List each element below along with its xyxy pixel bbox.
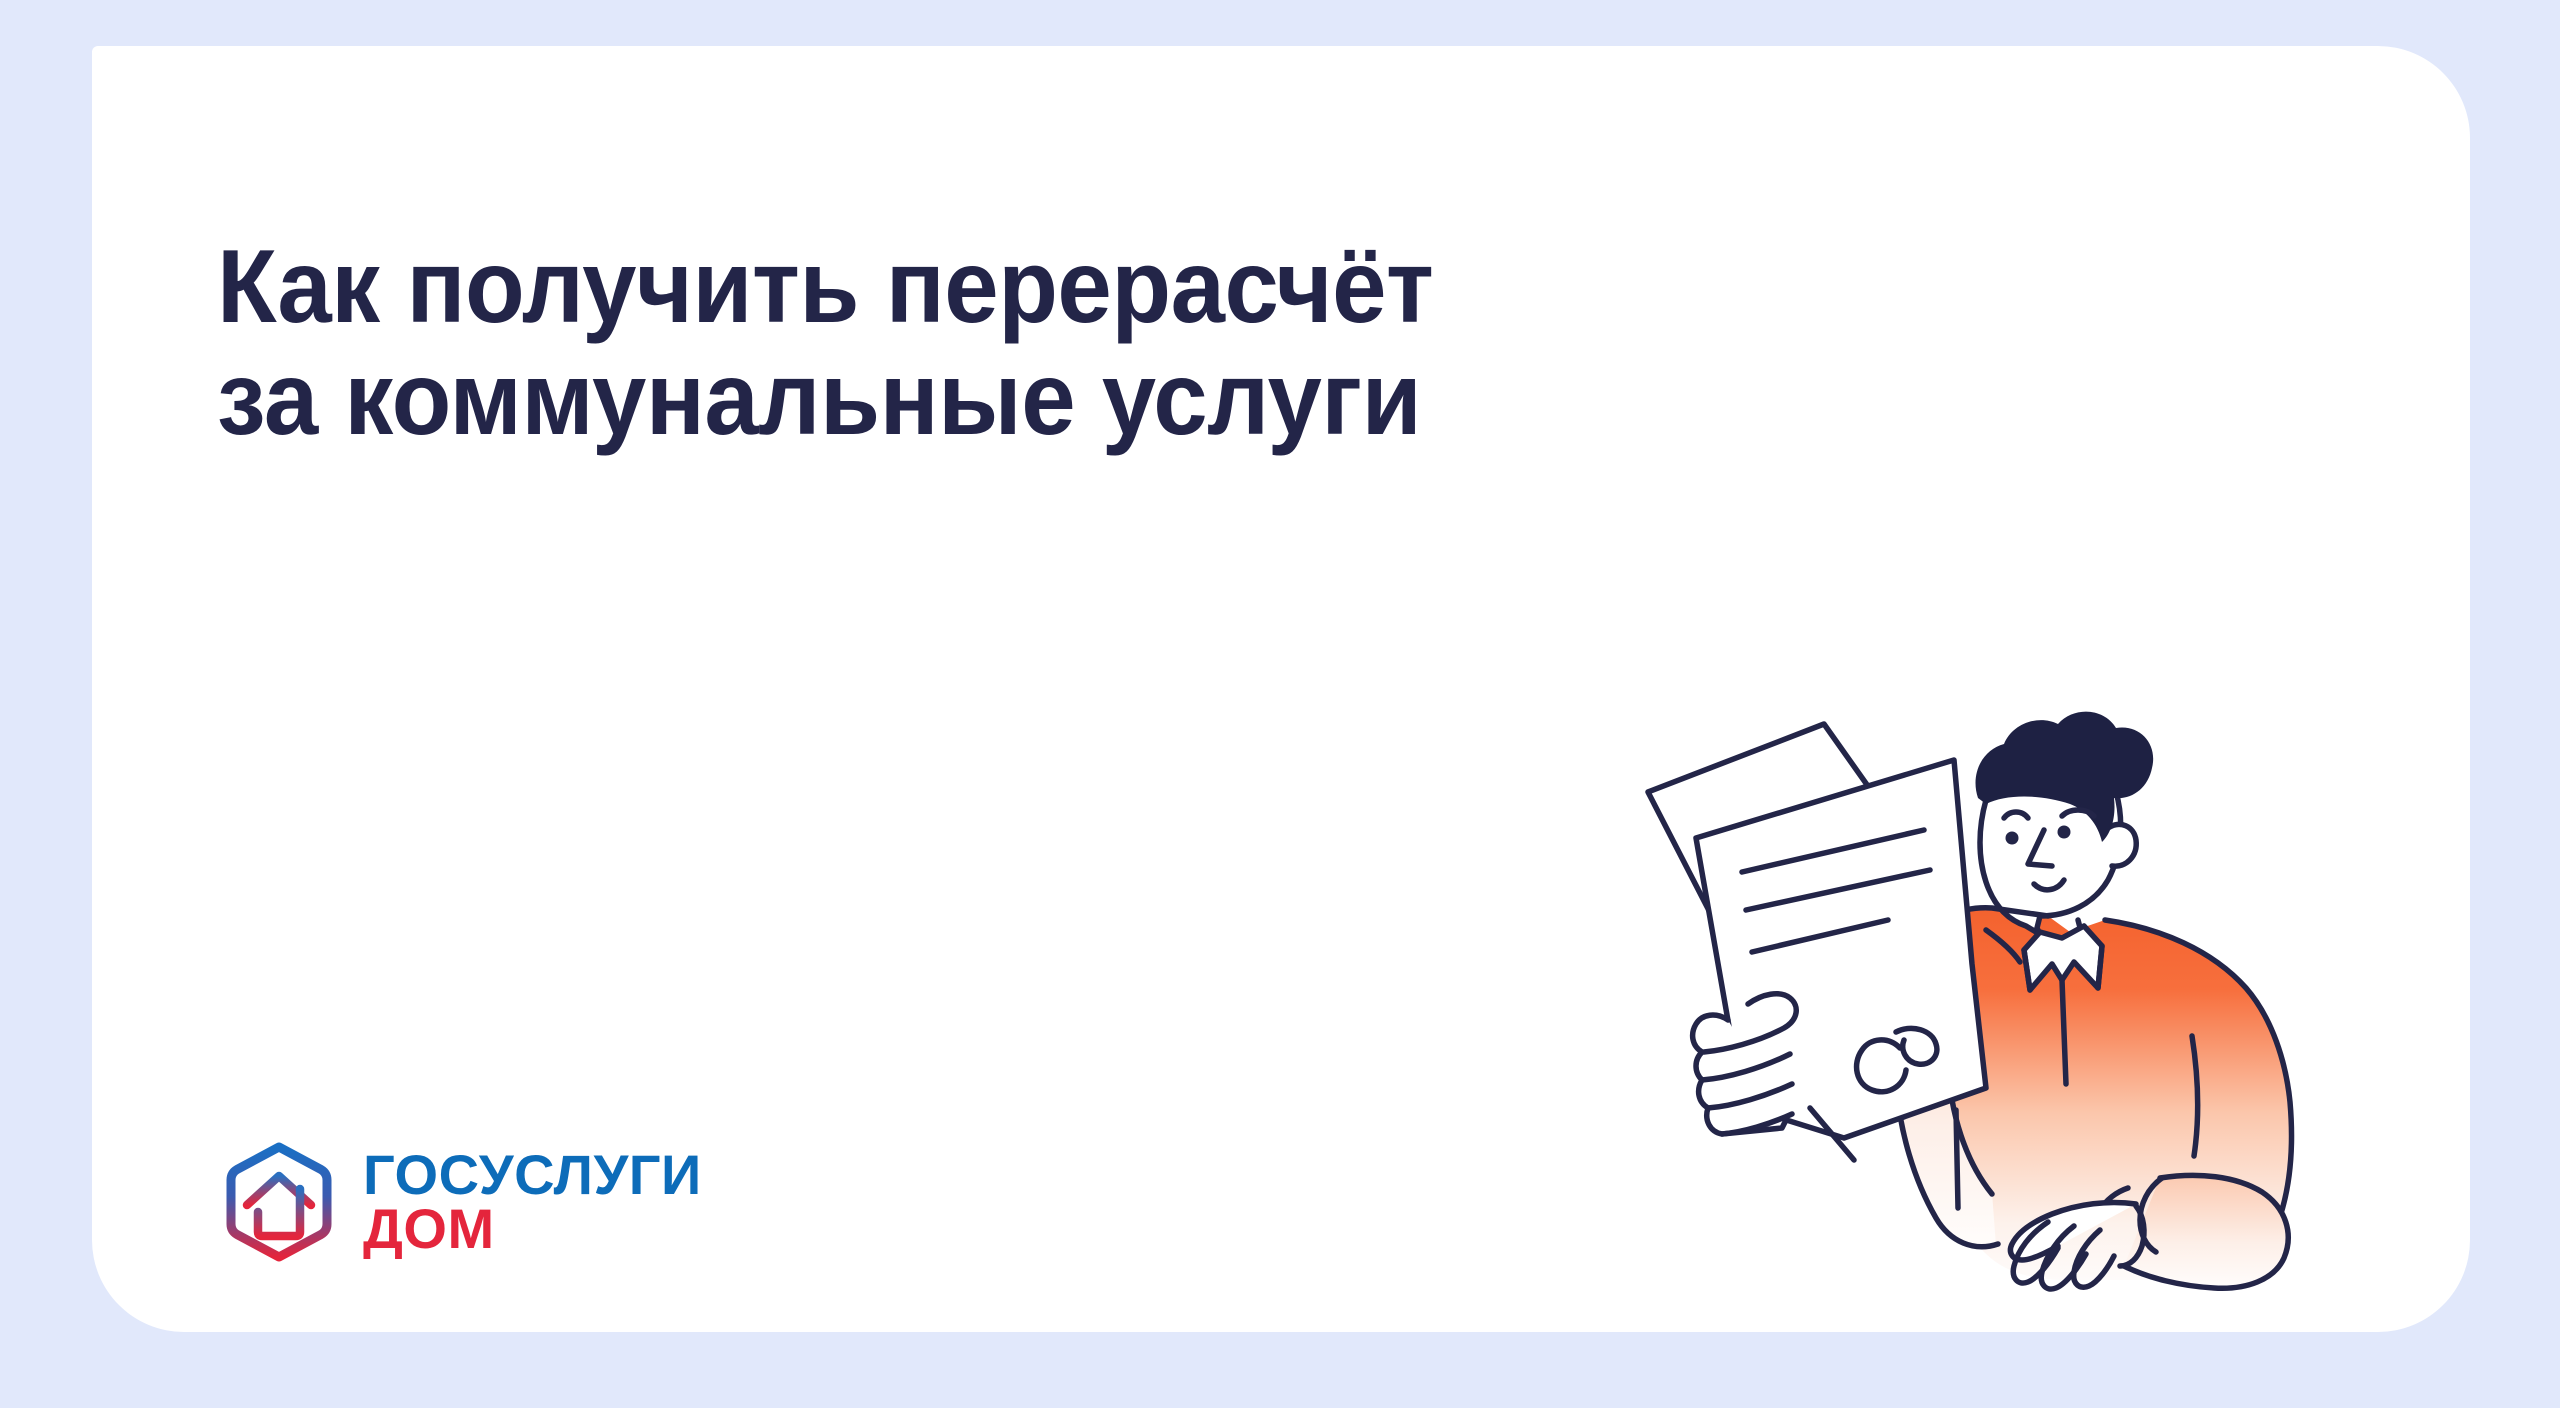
man-with-documents-illustration <box>1600 632 2400 1322</box>
hexagon-house-icon <box>217 1140 341 1264</box>
content-card: Как получить перерасчёт за коммунальные … <box>92 46 2470 1332</box>
logo-word-dom: ДОМ <box>363 1202 702 1256</box>
poster-canvas: Как получить перерасчёт за коммунальные … <box>0 0 2560 1408</box>
illustration-man-holding-documents <box>1600 632 2400 1322</box>
logo-wordmark: ГОСУСЛУГИ ДОМ <box>363 1148 702 1256</box>
gosuslugi-dom-logo[interactable]: ГОСУСЛУГИ ДОМ <box>217 1140 702 1264</box>
page-title-line-1: Как получить перерасчёт <box>217 231 1433 343</box>
page-title: Как получить перерасчёт за коммунальные … <box>217 231 1433 456</box>
logo-word-gosuslugi: ГОСУСЛУГИ <box>363 1148 702 1202</box>
page-title-line-2: за коммунальные услуги <box>217 343 1433 455</box>
